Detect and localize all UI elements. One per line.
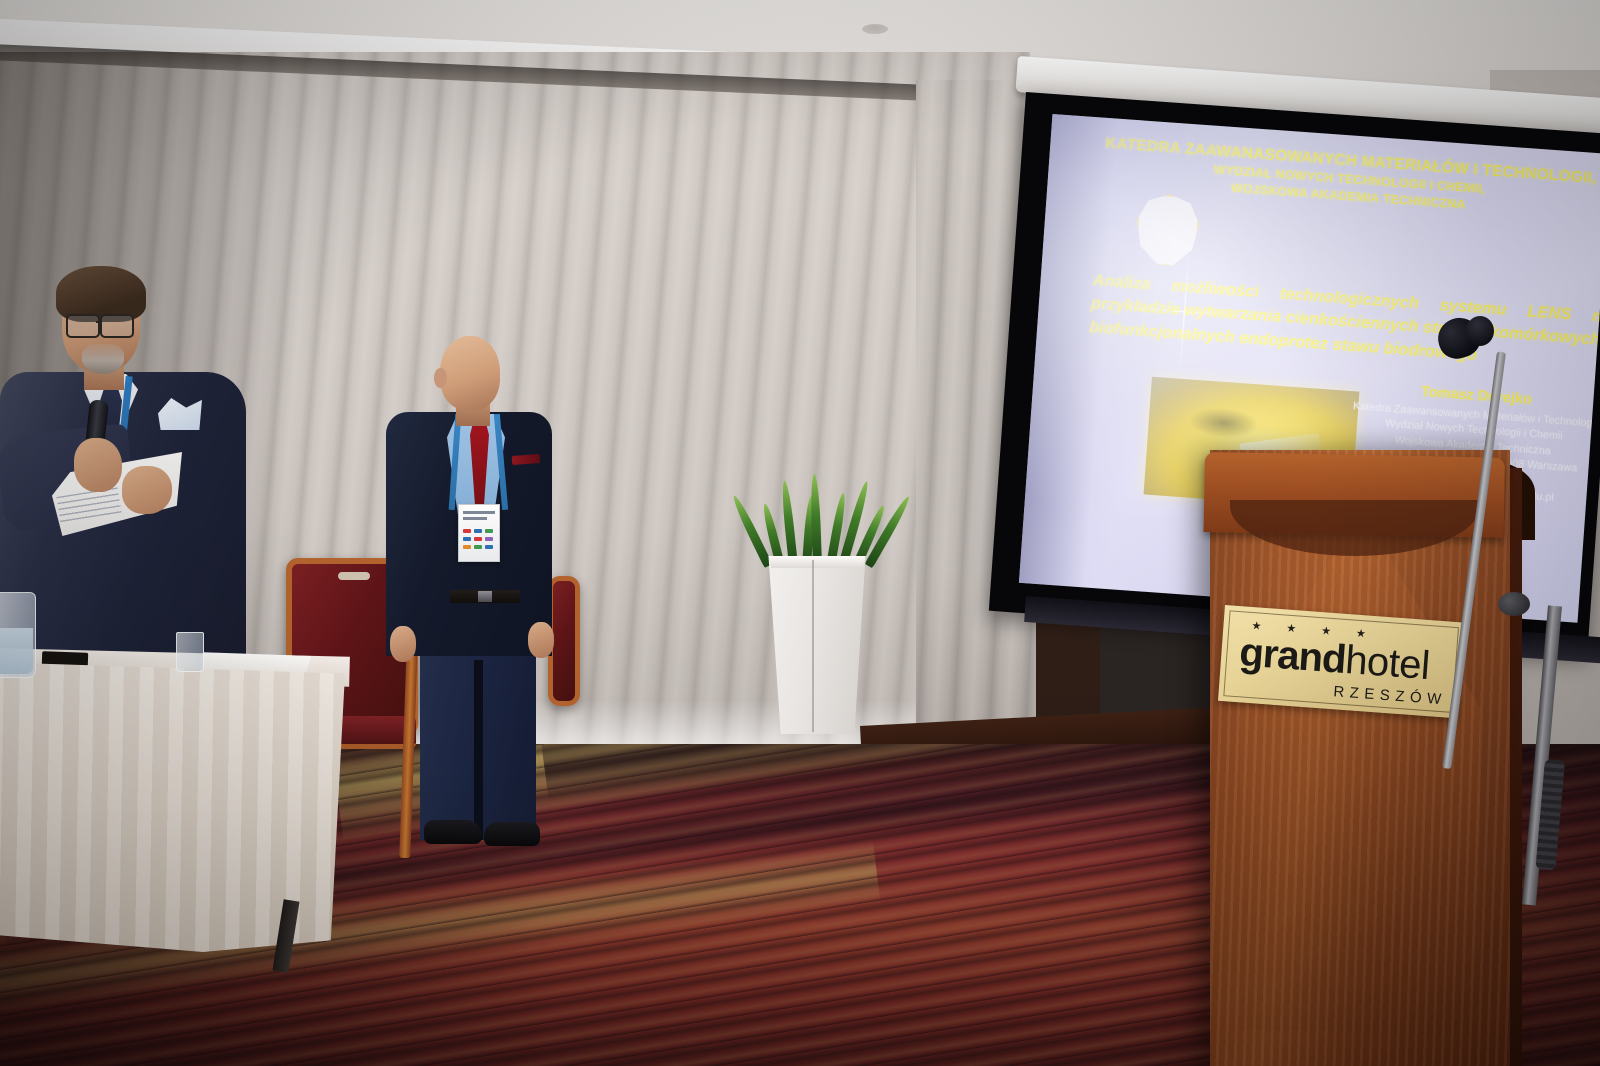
- microphone-windscreen: [1466, 316, 1494, 346]
- presenter-shoe-right: [484, 822, 540, 846]
- moderator-beard: [82, 344, 124, 374]
- carafe-water-level: [0, 628, 33, 674]
- eyeglasses-left-lens-icon: [66, 314, 100, 338]
- podium-veneer-chevron: [1240, 510, 1480, 1030]
- presenter-hand-left: [390, 626, 416, 662]
- plaque-brand-grand: grand: [1238, 630, 1347, 682]
- hotel-plaque: ★ ★ ★ ★ grandhotel RZESZÓW: [1218, 605, 1464, 718]
- planter-rim: [764, 556, 870, 568]
- presenter-head: [440, 336, 500, 410]
- microphone-stand-clamp[interactable]: [1498, 592, 1530, 616]
- conference-badge[interactable]: [458, 504, 500, 562]
- ceiling-vent: [862, 24, 888, 34]
- presenter-ear: [434, 368, 447, 388]
- presenter-shoe-left: [424, 820, 482, 844]
- conference-room-photo: KATEDRA ZAAWANASOWANYCH MATERIAŁÓW I TEC…: [0, 0, 1600, 1066]
- eyeglasses-right-lens-icon: [100, 314, 134, 338]
- planter-corner-edge: [812, 560, 814, 732]
- plant-leaf: [780, 480, 798, 566]
- slide-title-text: Analiza możliwości technologicznych syst…: [1088, 269, 1600, 376]
- presenter-hand-right: [528, 622, 554, 658]
- presenter-belt-buckle: [478, 591, 492, 602]
- eyeglasses-bridge: [96, 321, 102, 323]
- presenter-leg-gap: [474, 660, 483, 840]
- slide-photo-detail-a: [1188, 406, 1260, 441]
- chair-back-slot: [338, 572, 370, 580]
- moderator-hand-holding-notes: [122, 466, 172, 514]
- drinking-glass[interactable]: [176, 632, 204, 672]
- plaque-brand-hotel: hotel: [1344, 638, 1431, 688]
- sansevieria-plant: [756, 470, 886, 566]
- university-crest-logo: [1134, 192, 1201, 268]
- presenter-pocket-square: [512, 454, 541, 465]
- moderator-hand-holding-mic: [74, 438, 122, 492]
- plant-leaf: [810, 474, 822, 566]
